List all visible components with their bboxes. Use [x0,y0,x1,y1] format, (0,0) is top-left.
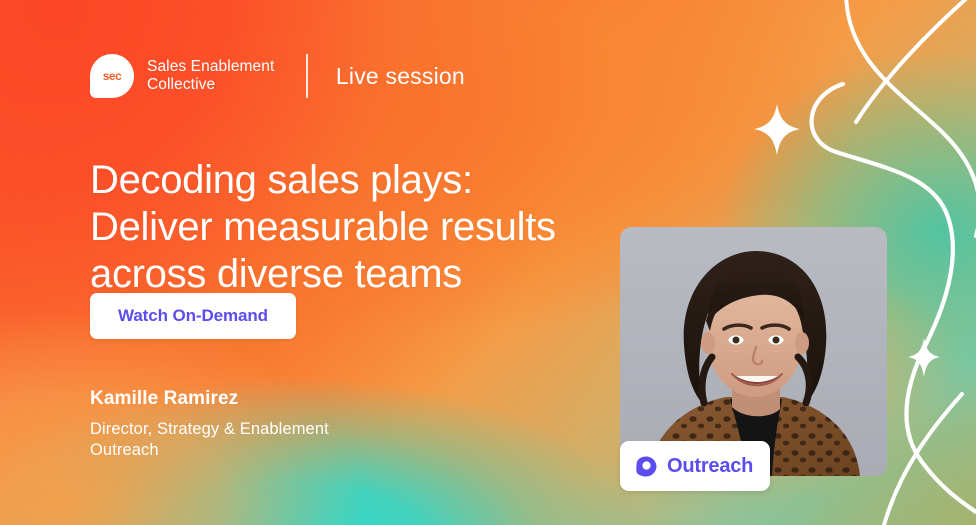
speaker-company: Outreach [90,440,329,461]
watch-on-demand-button[interactable]: Watch On-Demand [90,293,296,339]
outreach-pin-icon [635,455,658,478]
page-title: Decoding sales plays: Deliver measurable… [90,157,556,298]
header-divider [306,54,308,98]
sponsor-name: Outreach [667,455,753,478]
logo-mark-text: sec [90,54,134,98]
speaker-info: Kamille Ramirez Director, Strategy & Ena… [90,388,329,461]
webinar-promo-banner: sec Sales Enablement Collective Live ses… [0,0,976,525]
speaker-headshot-image [620,227,887,476]
session-type-label: Live session [336,63,465,90]
sponsor-badge: Outreach [620,441,770,491]
logo-wordmark: Sales Enablement Collective [147,58,274,94]
sec-logo-icon: sec [90,54,134,98]
speaker-photo [620,227,887,476]
brand-header: sec Sales Enablement Collective Live ses… [90,52,465,100]
speaker-role: Director, Strategy & Enablement [90,419,329,440]
speaker-name: Kamille Ramirez [90,388,329,410]
